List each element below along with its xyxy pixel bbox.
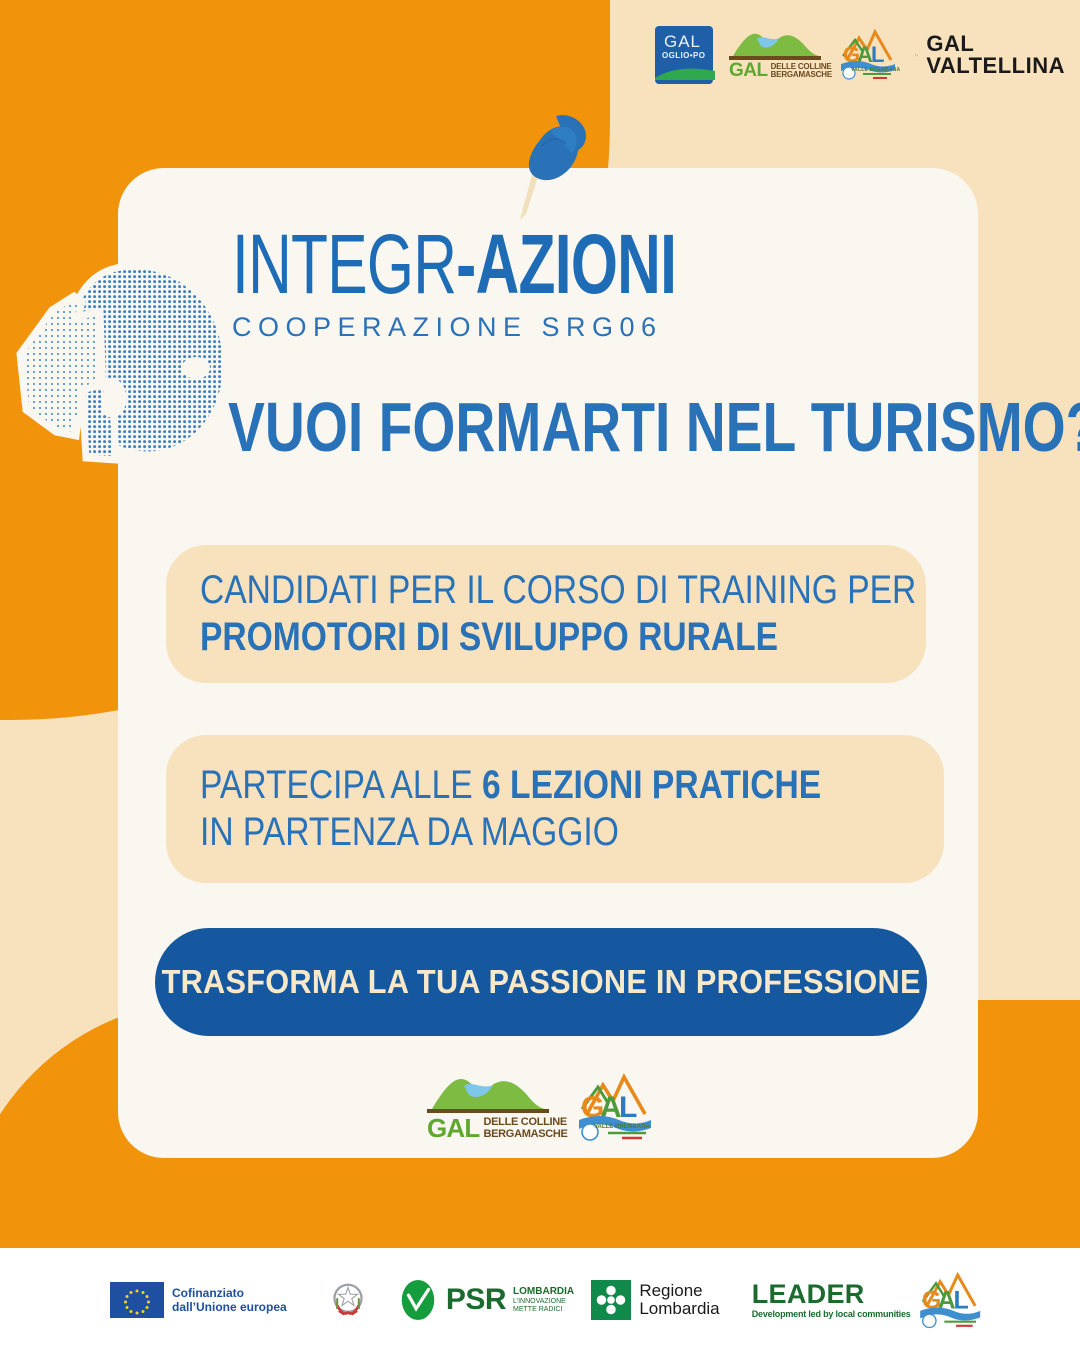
regione-line2: Lombardia [639, 1300, 719, 1318]
footer-logo-repubblica-italiana [300, 1277, 397, 1323]
poster-subtitle: COOPERAZIONE SRG06 [232, 312, 992, 343]
headline-block: INTEGR-AZIONI COOPERAZIONE SRG06 [232, 228, 992, 343]
logo-gal-oglio-po: GAL OGLIO•PO [655, 26, 713, 84]
logo-gal-delle-colline-bergamasche: GAL DELLE COLLINE BERGAMASCHE [727, 26, 823, 84]
regione-lombardia-rose-icon [591, 1280, 631, 1320]
leader-title: LEADER [752, 1280, 911, 1310]
gal-colline-hills-icon [727, 26, 823, 60]
logo-gal-valle-brembana: G A L VALLE BREMBANA [837, 26, 901, 84]
logo-gal-oglio-po-subtitle: OGLIO•PO [662, 51, 705, 60]
cta-button[interactable]: TRASFORMA LA TUA PASSIONE IN PROFESSIONE [155, 928, 927, 1036]
poster-canvas: GAL OGLIO•PO GAL DELLE COLLINE BERGAMASC… [0, 0, 1080, 1350]
info-pill-course: CANDIDATI PER IL CORSO DI TRAINING PER P… [166, 545, 926, 683]
pill-course-line2-strong: PROMOTORI DI SVILUPPO RURALE [200, 615, 778, 659]
pushpin-icon [486, 106, 616, 226]
psr-line3: L’INNOVAZIONE [513, 1298, 574, 1306]
card-gal-colline-line2: DELLE COLLINE [483, 1117, 567, 1128]
pill-lessons-line1: PARTECIPA ALLE 6 LEZIONI PRATICHE [200, 762, 796, 809]
title-light-part: INTEGR [232, 217, 456, 311]
megaphone-icon [8, 250, 258, 520]
pill-lessons-line1-strong: 6 LEZIONI PRATICHE [482, 763, 821, 807]
svg-text:L: L [954, 1286, 969, 1314]
gal-brembana-caption: VALLE BREMBANA [851, 67, 900, 73]
top-partner-logos: GAL OGLIO•PO GAL DELLE COLLINE BERGAMASC… [655, 24, 1065, 86]
psr-text: PSR [446, 1283, 506, 1317]
logo-gal-oglio-po-title: GAL [664, 32, 701, 52]
pill-lessons-line1-prefix: PARTECIPA ALLE [200, 763, 482, 807]
footer-logo-psr-lombardia: PSR LOMBARDIA L’INNOVAZIONE METTE RADICI [397, 1279, 591, 1321]
eu-line2: dall’Unione europea [172, 1300, 287, 1314]
title-bold-part: AZIONI [476, 217, 677, 311]
gal-valtellina-symbols-icon [915, 34, 918, 76]
footer-logo-regione-lombardia: Regione Lombardia [591, 1280, 751, 1320]
gal-colline-gal-text: GAL [729, 60, 768, 82]
card-gal-colline-hills-icon [424, 1069, 552, 1113]
logo-gal-oglio-po-hill-icon [655, 62, 715, 80]
eu-flag-icon [110, 1282, 164, 1318]
svg-text:L: L [619, 1091, 637, 1124]
leader-tagline: Development led by local communities [752, 1310, 911, 1320]
info-pill-lessons: PARTECIPA ALLE 6 LEZIONI PRATICHE IN PAR… [166, 735, 944, 883]
poster-title: INTEGR-AZIONI [232, 228, 779, 302]
svg-text:L: L [871, 42, 884, 67]
footer-gal-brembana-icon: G A L [916, 1268, 986, 1332]
pill-course-line1: CANDIDATI PER IL CORSO DI TRAINING PER [200, 567, 781, 614]
eu-line1: Cofinanziato [172, 1286, 287, 1300]
footer-logo-gal-valle-brembana: G A L [912, 1268, 990, 1332]
gal-brembana-mountain-icon: G A L [837, 26, 901, 84]
pill-lessons-line2: IN PARTENZA DA MAGGIO [200, 809, 796, 856]
footer-logo-leader: LEADER Development led by local communit… [752, 1280, 912, 1320]
footer-logo-eu-cofinanziato: Cofinanziato dall’Unione europea [110, 1282, 300, 1318]
gal-valtellina-line1: GAL [926, 33, 1065, 55]
card-gal-colline-line3: BERGAMASCHE [483, 1129, 567, 1140]
logo-gal-valtellina: GAL VALTELLINA [915, 29, 1065, 81]
repubblica-italiana-emblem-icon [330, 1277, 366, 1323]
cta-button-label: TRASFORMA LA TUA PASSIONE IN PROFESSIONE [161, 963, 920, 1001]
card-gal-brembana-mountain-icon: G A L [574, 1069, 658, 1145]
pill-course-line2: PROMOTORI DI SVILUPPO RURALE [200, 614, 781, 661]
headline-question: VUOI FORMARTI NEL TURISMO? [228, 392, 852, 462]
psr-line2: LOMBARDIA [513, 1286, 574, 1298]
card-bottom-logos: GAL DELLE COLLINE BERGAMASCHE G A L VALL… [424, 1068, 664, 1146]
card-logo-gal-delle-colline-bergamasche: GAL DELLE COLLINE BERGAMASCHE [424, 1069, 552, 1145]
title-separator: - [456, 217, 475, 311]
psr-leaf-icon [397, 1279, 439, 1321]
psr-line4: METTE RADICI [513, 1306, 574, 1314]
gal-valtellina-line2: VALTELLINA [926, 55, 1065, 77]
card-gal-brembana-caption: VALLE BREMBANA [594, 1124, 650, 1130]
footer-logo-strip: Cofinanziato dall’Unione europea PSR LOM… [110, 1268, 990, 1332]
gal-colline-line3: BERGAMASCHE [771, 71, 832, 79]
card-gal-colline-gal-text: GAL [427, 1113, 479, 1144]
card-logo-gal-valle-brembana: G A L VALLE BREMBANA [574, 1069, 658, 1145]
regione-line1: Regione [639, 1282, 719, 1300]
